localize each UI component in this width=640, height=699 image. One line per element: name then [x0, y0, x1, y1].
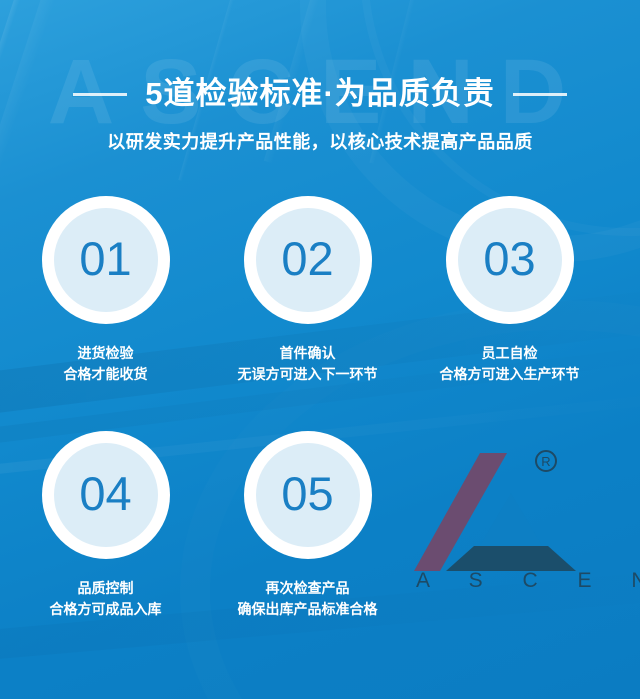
step-caption-line1: 首件确认: [211, 343, 404, 364]
step-number-01: 01: [79, 235, 131, 285]
title-rule-left: [73, 93, 127, 96]
step-circle-inner-04: 04: [54, 443, 158, 547]
step-caption-line1: 再次检查产品: [211, 578, 404, 599]
step-caption-line1: 进货检验: [9, 343, 202, 364]
step-circle-05: 05: [244, 431, 372, 559]
step-caption-04: 品质控制 合格方可成品入库: [9, 578, 202, 620]
title-row: 5道检验标准·为品质负责: [0, 72, 640, 116]
step-caption-05: 再次检查产品 确保出库产品标准合格: [211, 578, 404, 620]
step-caption-line1: 品质控制: [9, 578, 202, 599]
logo-wordmark: A S C E N D: [416, 569, 616, 593]
step-caption-line2: 无误方可进入下一环节: [211, 364, 404, 385]
step-circle-inner-03: 03: [458, 208, 562, 312]
step-item-01: 01 进货检验 合格才能收货: [9, 196, 202, 385]
step-caption-line2: 合格方可成品入库: [9, 599, 202, 620]
step-item-05: 05 再次检查产品 确保出库产品标准合格: [211, 431, 404, 620]
step-caption-line1: 员工自检: [413, 343, 606, 364]
title-rule-right: [513, 93, 567, 96]
registered-trademark-icon: R: [536, 451, 556, 471]
step-item-04: 04 品质控制 合格方可成品入库: [9, 431, 202, 620]
step-number-04: 04: [79, 470, 131, 520]
step-caption-line2: 合格才能收货: [9, 364, 202, 385]
step-caption-01: 进货检验 合格才能收货: [9, 343, 202, 385]
step-circle-01: 01: [42, 196, 170, 324]
promo-banner: ASCEND 5道检验标准·为品质负责 以研发实力提升产品性能，以核心技术提高产…: [0, 0, 640, 699]
step-item-02: 02 首件确认 无误方可进入下一环节: [211, 196, 404, 385]
step-circle-inner-02: 02: [256, 208, 360, 312]
step-caption-line2: 合格方可进入生产环节: [413, 364, 606, 385]
steps-row-1: 01 进货检验 合格才能收货 02 首件确认 无误方可进入下一环节: [0, 196, 640, 385]
step-circle-inner-05: 05: [256, 443, 360, 547]
step-item-03: 03 员工自检 合格方可进入生产环节: [413, 196, 606, 385]
page-subtitle: 以研发实力提升产品性能，以核心技术提高产品品质: [0, 128, 640, 154]
step-circle-03: 03: [446, 196, 574, 324]
step-caption-line2: 确保出库产品标准合格: [211, 599, 404, 620]
step-circle-inner-01: 01: [54, 208, 158, 312]
header: 5道检验标准·为品质负责 以研发实力提升产品性能，以核心技术提高产品品质: [0, 72, 640, 154]
step-caption-02: 首件确认 无误方可进入下一环节: [211, 343, 404, 385]
step-number-03: 03: [483, 235, 535, 285]
logo-base-trapezoid-shape: [446, 546, 576, 571]
svg-text:R: R: [541, 454, 550, 469]
ascend-logo: R A S C E N D: [414, 443, 624, 598]
step-circle-04: 04: [42, 431, 170, 559]
page-title: 5道检验标准·为品质负责: [145, 72, 495, 116]
step-number-05: 05: [281, 470, 333, 520]
step-caption-03: 员工自检 合格方可进入生产环节: [413, 343, 606, 385]
step-number-02: 02: [281, 235, 333, 285]
step-circle-02: 02: [244, 196, 372, 324]
